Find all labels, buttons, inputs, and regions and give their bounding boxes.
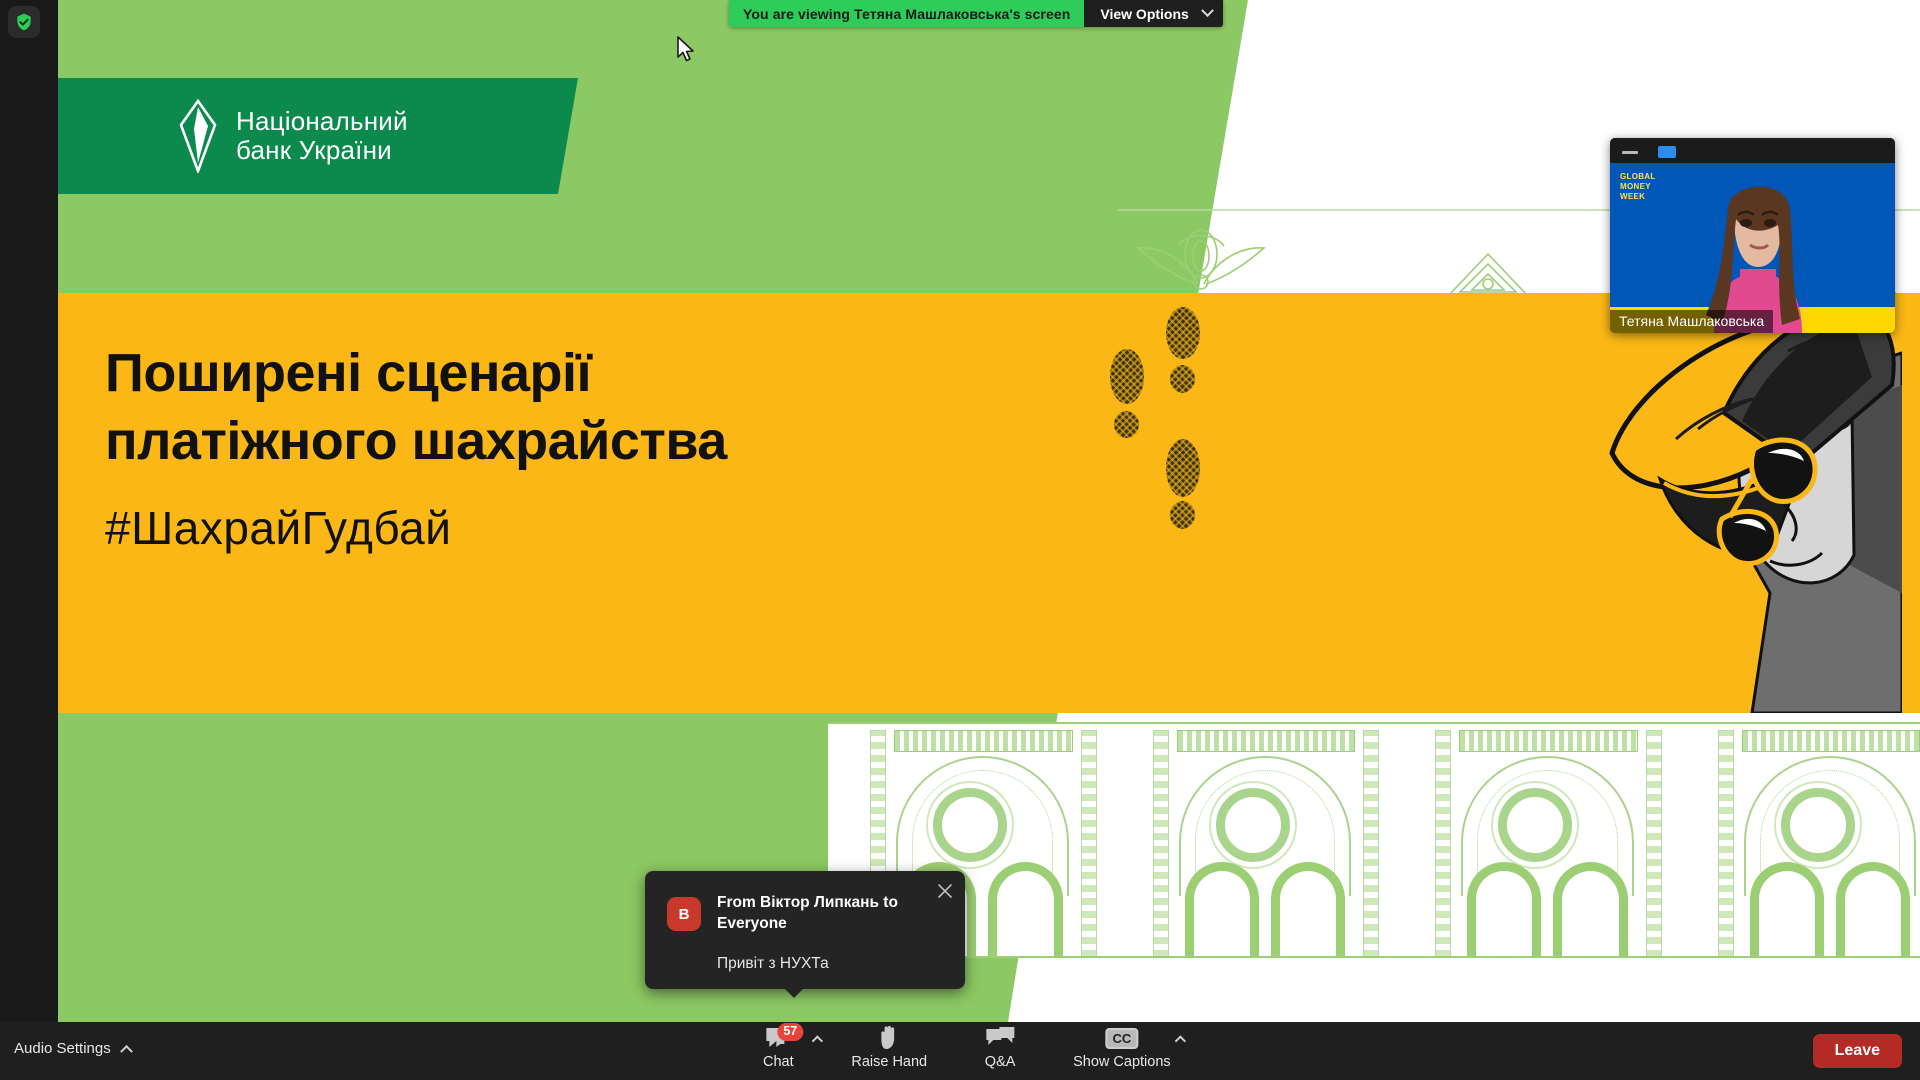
nbu-logo-line2: банк України [236,136,408,165]
slide-hashtag: #ШахрайГудбай [105,501,451,555]
chevron-up-icon [120,1045,133,1058]
video-tile-header [1610,138,1895,163]
chevron-up-icon[interactable] [1175,1035,1186,1046]
gmw-line-2: MONEY [1620,182,1668,192]
nbu-logo-plate: Національний банк України [58,78,578,194]
slide-yellow-band: Поширені сценарії платіжного шахрайства … [58,293,1920,713]
gmw-line-3: WEEK [1620,192,1668,202]
toolbar-item-qa[interactable]: Q&A [971,1025,1029,1070]
headline-line-2: платіжного шахрайства [105,407,985,475]
participant-video-tile[interactable]: GLOBAL MONEY WEEK Тетяна Машлаковська [1610,138,1895,333]
chat-toast-title: From Віктор Липкань to Everyone [717,893,925,934]
detective-illustration [1602,293,1902,713]
video-feed: GLOBAL MONEY WEEK Тетяна Машлаковська [1610,163,1895,333]
mouse-pointer-icon [676,36,696,64]
viewing-banner-text: You are viewing Тетяна Машлаковська's sc… [729,0,1084,27]
audio-settings-label: Audio Settings [14,1040,111,1057]
view-options-label: View Options [1100,6,1188,22]
leave-button[interactable]: Leave [1813,1034,1902,1068]
chat-toast-message: Привіт з НУХТа [717,955,829,973]
minimize-icon[interactable] [1622,151,1638,154]
chevron-down-icon [1201,4,1214,17]
toolbar-item-chat[interactable]: 57 Chat [749,1025,807,1070]
toolbar-center-group: 57 Chat Raise Hand [749,1025,1170,1070]
chat-unread-badge: 57 [777,1023,803,1041]
audio-settings-button[interactable]: Audio Settings [14,1040,131,1057]
banknote-arch-ornament [828,722,1920,958]
toolbar-label-raise-hand: Raise Hand [851,1054,927,1070]
qa-bubbles-icon [985,1025,1015,1051]
toolbar-item-raise-hand[interactable]: Raise Hand [851,1025,927,1070]
toolbar-label-chat: Chat [763,1054,794,1070]
chat-notification-toast[interactable]: В From Віктор Липкань to Everyone Привіт… [645,871,965,989]
participant-name-label: Тетяна Машлаковська [1610,310,1773,333]
toolbar-label-qa: Q&A [985,1054,1016,1070]
maximize-icon[interactable] [1658,146,1676,158]
avatar-initial: В [667,897,701,931]
close-icon[interactable] [937,883,953,899]
cc-icon: CC [1105,1025,1138,1051]
meeting-toolbar: Audio Settings 57 Chat [0,1022,1920,1080]
toolbar-label-show-captions: Show Captions [1073,1054,1171,1070]
gmw-line-1: GLOBAL [1620,172,1668,182]
nbu-hryvnia-mark-icon [178,99,218,173]
viewing-banner: You are viewing Тетяна Машлаковська's sc… [729,0,1223,27]
shoe-prints-icon [1098,303,1228,603]
left-rail [0,0,58,1022]
slide-headline: Поширені сценарії платіжного шахрайства [105,339,985,475]
encryption-shield-icon[interactable] [8,6,40,38]
avatar [1678,173,1838,333]
raised-hand-icon [877,1025,901,1051]
headline-line-1: Поширені сценарії [105,339,985,407]
toolbar-item-show-captions[interactable]: CC Show Captions [1073,1025,1171,1070]
global-money-week-logo-icon: GLOBAL MONEY WEEK [1620,172,1668,204]
nbu-logo-line1: Національний [236,107,408,136]
view-options-button[interactable]: View Options [1084,0,1222,27]
zoom-meeting-window: Національний банк України Поширені сцена… [0,0,1920,1080]
chevron-up-icon[interactable] [812,1035,823,1046]
